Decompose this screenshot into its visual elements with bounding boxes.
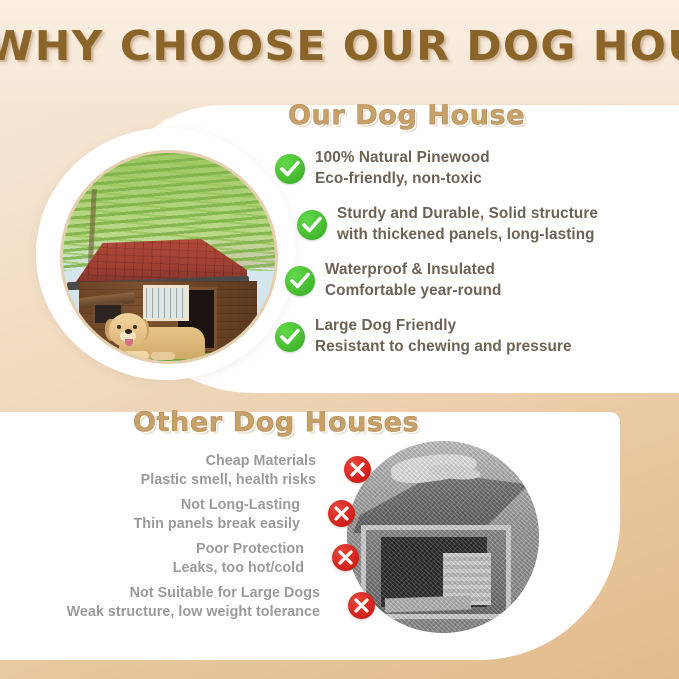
other-dog-houses-heading: Other Dog Houses (133, 407, 419, 438)
page-title: WHY CHOOSE OUR DOG HOUSE?" (0, 22, 679, 70)
photo-dog-eye-left (117, 325, 121, 329)
check-circle-icon (275, 154, 305, 184)
con-text: Poor Protection Leaks, too hot/cold (48, 540, 378, 578)
pro-text: Large Dog Friendly Resistant to chewing … (315, 316, 675, 357)
pro-item: Sturdy and Durable, Solid structure with… (275, 204, 675, 256)
pro-line-1: 100% Natural Pinewood (315, 148, 675, 169)
photo-dog-eye-right (133, 325, 137, 329)
check-circle-icon (297, 210, 327, 240)
con-line-2: Weak structure, low weight tolerance (48, 603, 320, 622)
pros-list: 100% Natural Pinewood Eco-friendly, non-… (275, 148, 675, 372)
our-dog-house-heading: Our Dog House (288, 100, 525, 131)
con-line-2: Leaks, too hot/cold (48, 559, 304, 578)
photo-dog-paw-left (123, 351, 149, 360)
con-line-1: Not Long-Lasting (48, 496, 300, 515)
con-line-2: Thin panels break easily (48, 515, 300, 534)
con-item: Cheap Materials Plastic smell, health ri… (48, 452, 378, 496)
x-circle-icon (344, 456, 371, 483)
pro-item: Waterproof & Insulated Comfortable year-… (275, 260, 675, 312)
pro-item: Large Dog Friendly Resistant to chewing … (275, 316, 675, 368)
pro-line-1: Waterproof & Insulated (325, 260, 675, 281)
check-circle-icon (285, 266, 315, 296)
con-line-1: Not Suitable for Large Dogs (48, 584, 320, 603)
photo-dog-paw-right (151, 352, 175, 360)
x-circle-icon (332, 544, 359, 571)
con-text: Cheap Materials Plastic smell, health ri… (48, 452, 378, 490)
pro-line-1: Sturdy and Durable, Solid structure (337, 204, 675, 225)
pro-text: Sturdy and Durable, Solid structure with… (337, 204, 675, 245)
infographic-poster: WHY CHOOSE OUR DOG HOUSE?" Our Dog House (0, 0, 679, 679)
pro-line-2: Resistant to chewing and pressure (315, 337, 675, 358)
con-item: Not Long-Lasting Thin panels break easil… (48, 496, 378, 540)
pro-line-2: with thickened panels, long-lasting (337, 225, 675, 246)
photo-dog-tongue (125, 339, 133, 346)
x-circle-icon (328, 500, 355, 527)
pro-line-2: Comfortable year-round (325, 281, 675, 302)
con-line-1: Poor Protection (48, 540, 304, 559)
pro-line-2: Eco-friendly, non-toxic (315, 169, 675, 190)
con-text: Not Suitable for Large Dogs Weak structu… (48, 584, 378, 622)
cons-list: Cheap Materials Plastic smell, health ri… (48, 452, 378, 628)
pro-text: Waterproof & Insulated Comfortable year-… (325, 260, 675, 301)
pro-text: 100% Natural Pinewood Eco-friendly, non-… (315, 148, 675, 189)
pro-line-1: Large Dog Friendly (315, 316, 675, 337)
con-item: Not Suitable for Large Dogs Weak structu… (48, 584, 378, 628)
pro-item: 100% Natural Pinewood Eco-friendly, non-… (275, 148, 675, 200)
con-line-1: Cheap Materials (48, 452, 316, 471)
photo-window-grid (146, 288, 186, 318)
photo-window (143, 285, 189, 321)
our-dog-house-photo (60, 150, 278, 364)
x-circle-icon (348, 592, 375, 619)
con-line-2: Plastic smell, health risks (48, 471, 316, 490)
photo-dog-nose (125, 329, 132, 334)
con-item: Poor Protection Leaks, too hot/cold (48, 540, 378, 584)
check-circle-icon (275, 322, 305, 352)
